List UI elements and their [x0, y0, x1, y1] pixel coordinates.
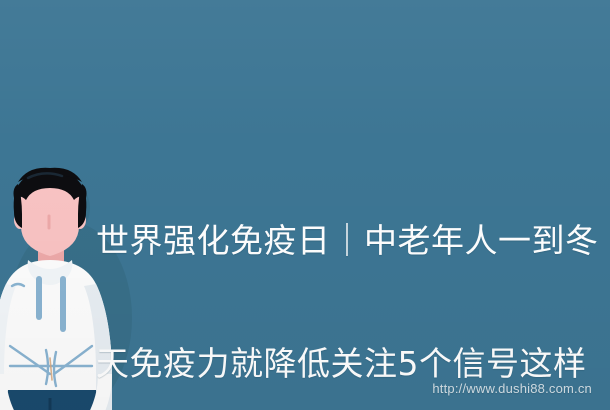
headline-text: 世界强化免疫日｜中老年人一到冬 天免疫力就降低关注5个信号这样: [96, 138, 596, 410]
headline-line-1: 世界强化免疫日｜中老年人一到冬: [96, 220, 596, 261]
watermark-url: http://www.dushi88.com.cn: [432, 381, 592, 396]
poster-canvas: 世界强化免疫日｜中老年人一到冬 天免疫力就降低关注5个信号这样 http://w…: [0, 0, 610, 410]
headline-line-2: 天免疫力就降低关注5个信号这样: [96, 343, 596, 384]
pants-group: [4, 390, 100, 410]
